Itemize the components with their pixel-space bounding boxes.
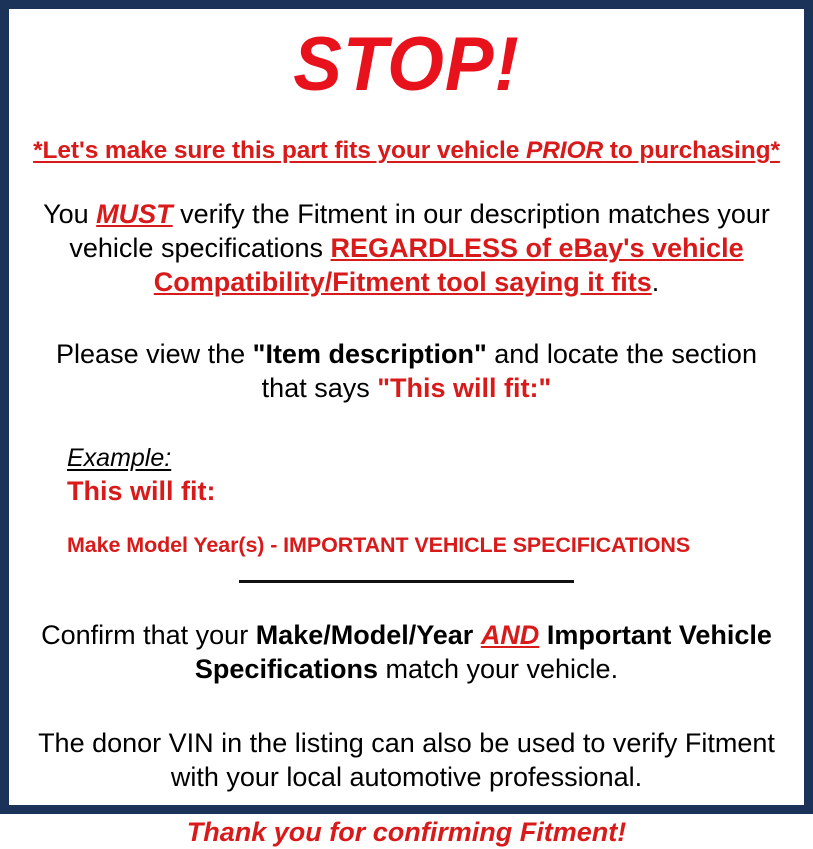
example-fit-heading: This will fit: — [67, 476, 794, 507]
example-spec-line: Make Model Year(s) - IMPORTANT VEHICLE S… — [67, 533, 794, 559]
paragraph-must-verify: You MUST verify the Fitment in our descr… — [19, 197, 794, 299]
view-text-part-1: Please view the — [56, 339, 253, 369]
confirm-text-part-4: match your vehicle. — [378, 654, 618, 684]
confirm-text-part-1: Confirm that your — [41, 620, 256, 650]
make-model-year-emphasis: Make/Model/Year — [256, 620, 474, 650]
paragraph-item-description: Please view the "Item description" and l… — [19, 337, 794, 405]
example-block: Example: This will fit: Make Model Year(… — [19, 445, 794, 558]
separator-line — [239, 580, 574, 583]
must-text-part-3: . — [652, 267, 660, 297]
subheading-suffix: to purchasing* — [603, 137, 780, 164]
confirm-space-1 — [473, 620, 481, 650]
must-emphasis: MUST — [96, 199, 173, 229]
fitment-notice-card: STOP! *Let's make sure this part fits yo… — [0, 0, 813, 814]
item-description-emphasis: "Item description" — [253, 339, 487, 369]
stop-title: STOP! — [35, 27, 779, 103]
subheading-prefix: *Let's make sure this part fits your veh… — [33, 137, 526, 164]
must-text-part-1: You — [43, 199, 96, 229]
confirm-space-2 — [539, 620, 547, 650]
and-emphasis: AND — [481, 620, 540, 650]
thank-you-line: Thank you for confirming Fitment! — [19, 816, 794, 848]
subheading-emphasis-prior: PRIOR — [526, 137, 603, 164]
separator — [19, 580, 794, 590]
example-label: Example: — [67, 445, 794, 473]
paragraph-confirm: Confirm that your Make/Model/Year AND Im… — [19, 618, 794, 686]
this-will-fit-emphasis: "This will fit:" — [377, 373, 551, 403]
notice-content: STOP! *Let's make sure this part fits yo… — [9, 9, 804, 805]
subheading-banner: *Let's make sure this part fits your veh… — [19, 138, 794, 165]
paragraph-donor-vin: The donor VIN in the listing can also be… — [19, 726, 794, 794]
